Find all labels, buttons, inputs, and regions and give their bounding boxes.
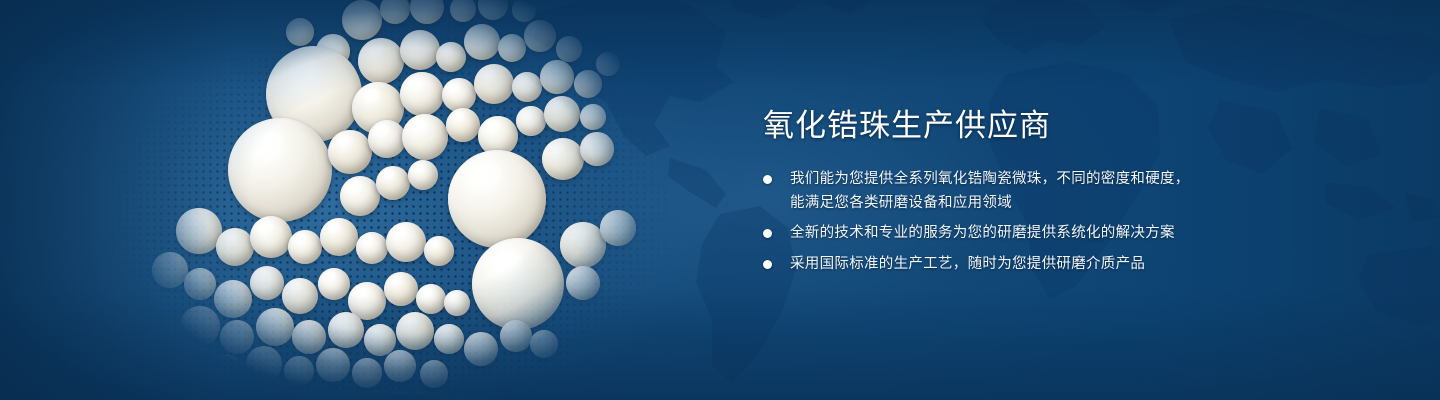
list-item: 我们能为您提供全系列氧化锆陶瓷微珠，不同的密度和硬度， 能满足您各类研磨设备和应… <box>763 168 1233 214</box>
list-item: 采用国际标准的生产工艺，随时为您提供研磨介质产品 <box>763 253 1233 276</box>
bullet-dot-icon <box>763 175 772 184</box>
feature-bullet-list: 我们能为您提供全系列氧化锆陶瓷微珠，不同的密度和硬度， 能满足您各类研磨设备和应… <box>763 168 1233 275</box>
bullet-text: 能满足您各类研磨设备和应用领域 <box>790 192 1233 215</box>
bullet-text: 采用国际标准的生产工艺，随时为您提供研磨介质产品 <box>790 253 1233 276</box>
bullet-text: 我们能为您提供全系列氧化锆陶瓷微珠，不同的密度和硬度， <box>790 168 1233 191</box>
bullet-text: 全新的技术和专业的服务为您的研磨提供系统化的解决方案 <box>790 222 1233 245</box>
zirconia-beads-photo <box>80 0 740 400</box>
banner-copy: 氧化锆珠生产供应商 我们能为您提供全系列氧化锆陶瓷微珠，不同的密度和硬度， 能满… <box>763 106 1233 275</box>
list-item: 全新的技术和专业的服务为您的研磨提供系统化的解决方案 <box>763 222 1233 245</box>
hero-banner: 氧化锆珠生产供应商 我们能为您提供全系列氧化锆陶瓷微珠，不同的密度和硬度， 能满… <box>0 0 1440 400</box>
bullet-dot-icon <box>763 229 772 238</box>
banner-headline: 氧化锆珠生产供应商 <box>763 106 1233 146</box>
bullet-dot-icon <box>763 260 772 269</box>
